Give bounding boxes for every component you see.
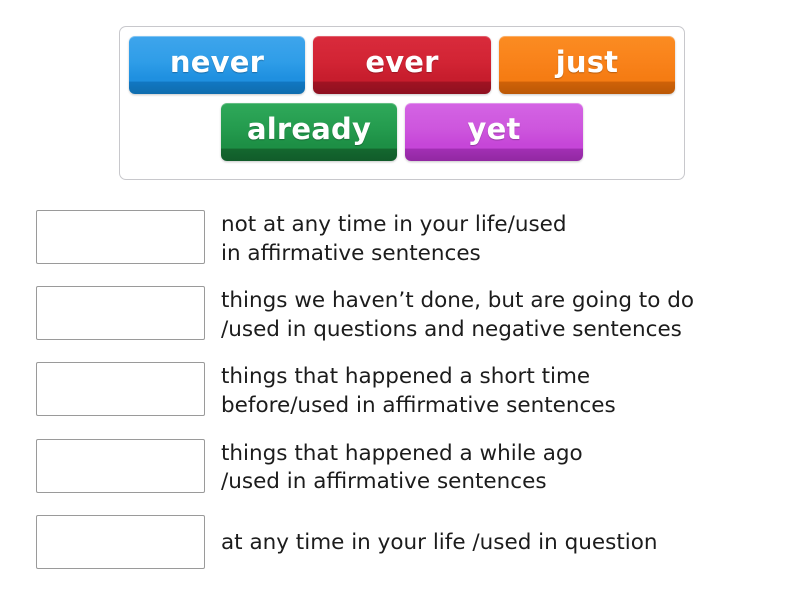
definition-text-2: things we haven’t done, but are going to… — [221, 286, 694, 344]
word-bank-row-2: already yet — [120, 94, 684, 161]
answer-rows: not at any time in your life/used in aff… — [36, 210, 776, 587]
answer-row: things we haven’t done, but are going to… — [36, 286, 776, 344]
drop-zone-3[interactable] — [36, 362, 205, 416]
definition-text-4: things that happened a while ago /used i… — [221, 439, 583, 497]
drop-zone-4[interactable] — [36, 439, 205, 493]
answer-row: things that happened a short time before… — [36, 362, 776, 420]
word-tile-just[interactable]: just — [499, 36, 675, 94]
word-tile-already[interactable]: already — [221, 103, 397, 161]
drop-zone-2[interactable] — [36, 286, 205, 340]
definition-text-3: things that happened a short time before… — [221, 362, 616, 420]
word-bank-row-1: never ever just — [120, 27, 684, 94]
word-bank-panel: never ever just already yet — [119, 26, 685, 180]
drop-zone-1[interactable] — [36, 210, 205, 264]
definition-text-1: not at any time in your life/used in aff… — [221, 210, 567, 268]
definition-text-5: at any time in your life /used in questi… — [221, 515, 658, 558]
word-tile-ever[interactable]: ever — [313, 36, 491, 94]
word-tile-yet[interactable]: yet — [405, 103, 583, 161]
drop-zone-5[interactable] — [36, 515, 205, 569]
answer-row: not at any time in your life/used in aff… — [36, 210, 776, 268]
answer-row: at any time in your life /used in questi… — [36, 515, 776, 569]
word-tile-never[interactable]: never — [129, 36, 305, 94]
answer-row: things that happened a while ago /used i… — [36, 439, 776, 497]
